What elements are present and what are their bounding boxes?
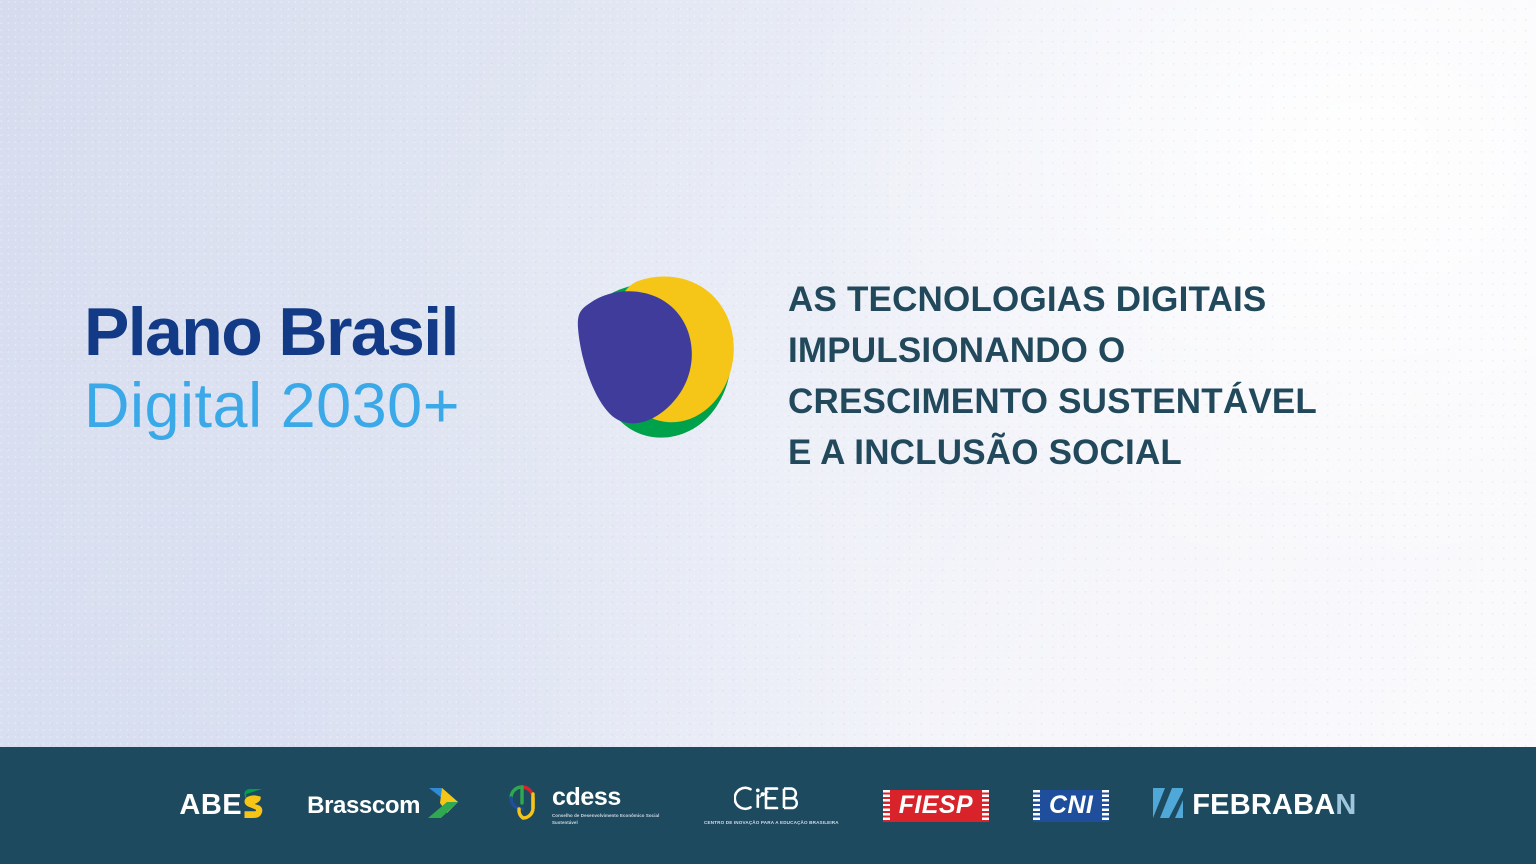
febraban-wordmark-accent: N [1335, 789, 1356, 821]
headline: AS TECNOLOGIAS DIGITAIS IMPULSIONANDO O … [788, 246, 1317, 478]
partner-logo-bar: ABE Brasscom [0, 747, 1536, 864]
partner-logo-cieb: CENTRO DE INOVAÇÃO PARA A EDUCAÇÃO BRASI… [704, 783, 839, 829]
slide-canvas: Plano Brasil Digital 2030+ AS TECNOLOGIA… [0, 0, 1536, 864]
brasscom-wordmark: Brasscom [307, 794, 420, 818]
cieb-tagline: CENTRO DE INOVAÇÃO PARA A EDUCAÇÃO BRASI… [704, 820, 839, 827]
febraban-slash-mark-icon [1153, 788, 1183, 823]
headline-line-2: IMPULSIONANDO O [788, 325, 1317, 376]
abes-wordmark: ABE [179, 791, 242, 820]
cni-wordmark: CNI [1033, 790, 1109, 822]
cdess-wordmark: cdess [552, 785, 660, 810]
brand-wordmark-line-2: Digital 2030+ [84, 372, 724, 440]
hero-section: Plano Brasil Digital 2030+ AS TECNOLOGIA… [0, 246, 1536, 478]
partner-logo-abes: ABE [179, 783, 263, 829]
brasscom-chevron-icon [427, 786, 460, 825]
partner-logo-febraban: FEBRABAN [1153, 783, 1356, 829]
fiesp-wordmark: FIESP [883, 790, 989, 822]
headline-line-1: AS TECNOLOGIAS DIGITAIS [788, 274, 1317, 325]
febraban-wordmark: FEBRABAN [1192, 791, 1356, 820]
partner-logo-fiesp: FIESP [883, 783, 989, 829]
cieb-wordmark-icon [734, 785, 808, 817]
partner-logo-cni: CNI [1033, 783, 1109, 829]
headline-line-3: CRESCIMENTO SUSTENTÁVEL [788, 376, 1317, 427]
cdess-tagline: Conselho de Desenvolvimento Econômico So… [552, 813, 660, 826]
headline-line-4: E A INCLUSÃO SOCIAL [788, 427, 1317, 478]
partner-logo-brasscom: Brasscom [307, 783, 460, 829]
cdess-text-stack: cdess Conselho de Desenvolvimento Econôm… [552, 785, 660, 826]
brand-wordmark: Plano Brasil Digital 2030+ [84, 246, 724, 440]
febraban-wordmark-main: FEBRABA [1192, 789, 1335, 821]
brand-lockup: Plano Brasil Digital 2030+ [84, 246, 724, 440]
brand-wordmark-line-1: Plano Brasil [84, 298, 724, 366]
partner-logo-cdess: cdess Conselho de Desenvolvimento Econôm… [504, 783, 660, 829]
cdess-monogram-icon [504, 781, 544, 830]
abes-s-icon [244, 788, 263, 824]
